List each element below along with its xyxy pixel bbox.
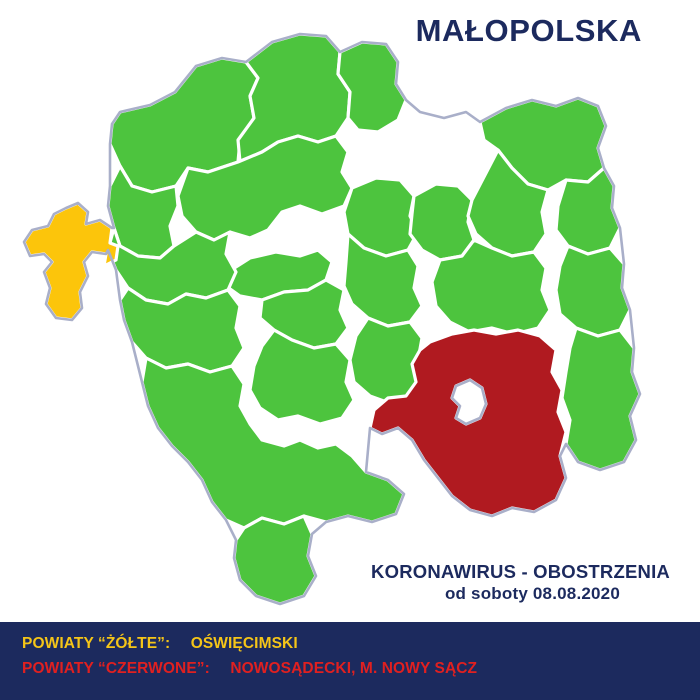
legend-bar: POWIATY “ŻÓŁTE”: OŚWIĘCIMSKI POWIATY “CZ… [0, 622, 700, 700]
legend-yellow-label: POWIATY “ŻÓŁTE”: [22, 635, 170, 652]
legend-row-yellow: POWIATY “ŻÓŁTE”: OŚWIĘCIMSKI [22, 635, 298, 653]
district-proszowicki[interactable] [338, 42, 406, 132]
district-tarnowski-e[interactable] [556, 246, 630, 336]
legend-red-label: POWIATY “CZERWONE”: [22, 660, 210, 677]
caption-subline: od soboty 08.08.2020 [0, 583, 678, 606]
district-brzeski[interactable] [410, 184, 474, 260]
district-gorlicki[interactable] [562, 328, 640, 470]
page-title: MAŁOPOLSKA [416, 13, 642, 49]
district-myslenicki[interactable] [250, 330, 354, 424]
caption-block: KORONAWIRUS - OBOSTRZENIA od soboty 08.0… [0, 560, 678, 606]
legend-yellow-value: OŚWIĘCIMSKI [191, 635, 298, 652]
poster-canvas: MAŁOPOLSKA KORONAWIRUS - OBOSTRZENIA od … [0, 0, 700, 700]
district-oswiecimski[interactable] [24, 203, 118, 320]
legend-row-red: POWIATY “CZERWONE”: NOWOSĄDECKI, M. NOWY… [22, 660, 477, 678]
legend-red-value: NOWOSĄDECKI, M. NOWY SĄCZ [230, 660, 477, 677]
district-suski[interactable] [120, 288, 244, 372]
nowy-sacz-enclave-outline [452, 380, 486, 424]
caption-headline: KORONAWIRUS - OBOSTRZENIA [0, 560, 678, 583]
